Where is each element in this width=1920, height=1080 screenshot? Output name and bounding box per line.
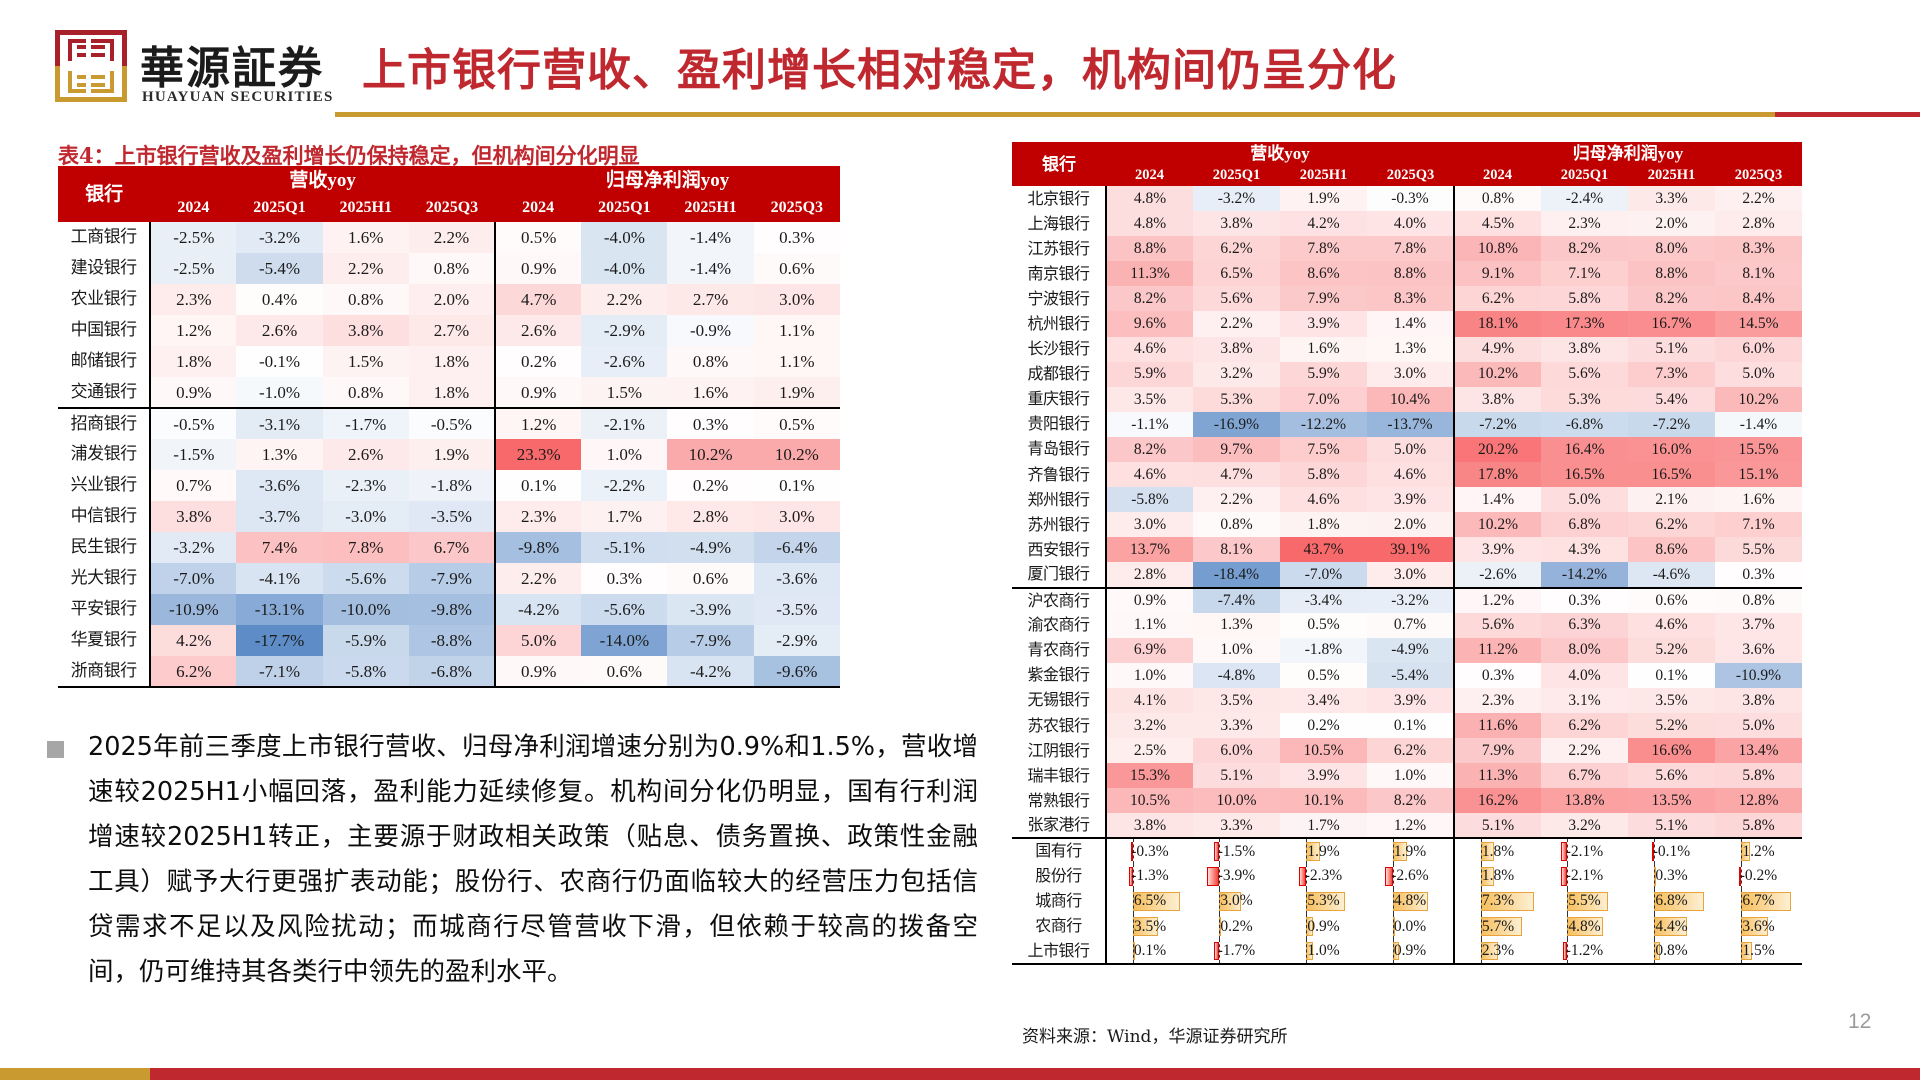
- table-cell-value: 10.1%: [1280, 788, 1367, 813]
- table-cell-value: 2.2%: [1541, 738, 1628, 763]
- table-cell-value: -4.2%: [667, 656, 753, 687]
- table-cell-value: 4.6%: [1106, 462, 1193, 487]
- table-cell-value: -4.1%: [236, 563, 322, 594]
- header-rule-gold: [335, 112, 1775, 117]
- table-cell-databar: -1.2%: [1541, 939, 1628, 964]
- col-group-profit: 归母净利润yoy: [495, 166, 840, 194]
- table-cell-value: -1.4%: [667, 222, 753, 253]
- table-cell-databar: 1.8%: [1454, 864, 1541, 889]
- table-cell-value: 10.2%: [1715, 387, 1802, 412]
- table-cell-value: -18.4%: [1193, 562, 1280, 587]
- table-cell-value: 0.8%: [667, 346, 753, 377]
- table-cell-value: 8.1%: [1715, 261, 1802, 286]
- table-cell-value: -14.2%: [1541, 562, 1628, 587]
- table-cell-value: 0.3%: [754, 222, 840, 253]
- table-row: 民生银行-3.2%7.4%7.8%6.7%-9.8%-5.1%-4.9%-6.4…: [58, 532, 840, 563]
- table-cell-value: -7.9%: [667, 625, 753, 656]
- table-cell-bank-name: 农业银行: [58, 284, 150, 315]
- table-cell-value: -3.5%: [754, 594, 840, 625]
- table-cell-value: 2.3%: [1454, 688, 1541, 713]
- table-cell-value: 0.4%: [236, 284, 322, 315]
- col-header-year: 2025H1: [1280, 164, 1367, 186]
- table-cell-value: 5.0%: [1541, 487, 1628, 512]
- table-row: 长沙银行4.6%3.8%1.6%1.3%4.9%3.8%5.1%6.0%: [1012, 337, 1802, 362]
- table-cell-value: 8.6%: [1280, 261, 1367, 286]
- table-cell-value: -6.8%: [1541, 412, 1628, 437]
- table-cell-value: 0.9%: [150, 377, 236, 408]
- table-cell-databar: -3.9%: [1193, 864, 1280, 889]
- table-cell-value: 3.2%: [1541, 813, 1628, 838]
- table-row-summary: 股份行-1.3%-3.9%-2.3%-2.6%1.8%-2.1%0.3%-0.2…: [1012, 864, 1802, 889]
- table-cell-value: 10.2%: [667, 439, 753, 470]
- col-header-bank: 银行: [1012, 142, 1106, 186]
- table-cell-value: 2.2%: [323, 253, 409, 284]
- table-cell-bank-name: 浙商银行: [58, 656, 150, 687]
- table-cell-databar: -2.3%: [1280, 864, 1367, 889]
- table-cell-value: -0.9%: [667, 315, 753, 346]
- table-cell-value: 7.8%: [1280, 236, 1367, 261]
- table-row: 华夏银行4.2%-17.7%-5.9%-8.8%5.0%-14.0%-7.9%-…: [58, 625, 840, 656]
- table-cell-value: 3.8%: [1193, 211, 1280, 236]
- table-row: 青岛银行8.2%9.7%7.5%5.0%20.2%16.4%16.0%15.5%: [1012, 437, 1802, 462]
- table-cell-value: 0.2%: [1280, 713, 1367, 738]
- table-cell-value: 8.3%: [1367, 286, 1454, 311]
- table-cell-value: 1.6%: [323, 222, 409, 253]
- table-cell-value: 1.8%: [150, 346, 236, 377]
- col-header-year: 2024: [150, 194, 236, 222]
- table-cell-value: 0.9%: [495, 377, 581, 408]
- table-cell-bank-name: 工商银行: [58, 222, 150, 253]
- table-cell-value: 6.5%: [1193, 261, 1280, 286]
- table-cell-databar: 2.3%: [1454, 939, 1541, 964]
- table-cell-value: -4.0%: [581, 222, 667, 253]
- table-cell-value: 1.0%: [1193, 638, 1280, 663]
- table-cell-bank-name: 杭州银行: [1012, 311, 1106, 336]
- table-row: 厦门银行2.8%-18.4%-7.0%3.0%-2.6%-14.2%-4.6%0…: [1012, 562, 1802, 587]
- table-cell-value: -2.6%: [581, 346, 667, 377]
- table-cell-value: 0.6%: [667, 563, 753, 594]
- table-cell-value: -2.5%: [150, 222, 236, 253]
- table-cell-value: 13.5%: [1628, 788, 1715, 813]
- table-cell-value: 9.1%: [1454, 261, 1541, 286]
- col-header-year: 2025Q1: [1193, 164, 1280, 186]
- table-cell-value: 16.7%: [1628, 311, 1715, 336]
- table-row-summary: 城商行6.5%3.0%5.3%4.8%7.3%5.5%6.8%6.7%: [1012, 889, 1802, 914]
- table-cell-value: 13.4%: [1715, 738, 1802, 763]
- table-cell-value: 3.9%: [1367, 688, 1454, 713]
- table-cell-value: 0.2%: [667, 470, 753, 501]
- table-cell-value: 43.7%: [1280, 537, 1367, 562]
- table-cell-value: 10.4%: [1367, 387, 1454, 412]
- table-cell-value: -1.1%: [1106, 412, 1193, 437]
- table-cell-value: -7.4%: [1193, 588, 1280, 613]
- table-cell-value: 1.9%: [409, 439, 495, 470]
- bank-growth-table-left: 银行 营收yoy 归母净利润yoy 2024 2025Q1 2025H1 202…: [58, 166, 840, 688]
- table-cell-databar: 0.1%: [1106, 939, 1193, 964]
- table-cell-value: -10.0%: [323, 594, 409, 625]
- table-cell-bank-name: 招商银行: [58, 408, 150, 439]
- table-cell-value: 0.5%: [1280, 663, 1367, 688]
- footer-rule: [0, 1068, 1920, 1080]
- table-cell-value: 2.6%: [236, 315, 322, 346]
- table-cell-databar: -0.1%: [1628, 838, 1715, 863]
- col-header-year: 2025Q3: [1367, 164, 1454, 186]
- table-cell-value: 0.8%: [323, 377, 409, 408]
- table-cell-bank-name: 光大银行: [58, 563, 150, 594]
- table-cell-bank-name: 厦门银行: [1012, 562, 1106, 587]
- table-cell-bank-name: 苏州银行: [1012, 512, 1106, 537]
- table-row: 青农商行6.9%1.0%-1.8%-4.9%11.2%8.0%5.2%3.6%: [1012, 638, 1802, 663]
- table-cell-value: -9.8%: [409, 594, 495, 625]
- table-cell-value: 5.6%: [1541, 362, 1628, 387]
- table-cell-databar: 1.9%: [1280, 838, 1367, 863]
- table-row: 重庆银行3.5%5.3%7.0%10.4%3.8%5.3%5.4%10.2%: [1012, 387, 1802, 412]
- table-cell-value: 3.3%: [1628, 186, 1715, 211]
- table-cell-value: 4.6%: [1367, 462, 1454, 487]
- table-cell-bank-name: 齐鲁银行: [1012, 462, 1106, 487]
- table-cell-value: 17.8%: [1454, 462, 1541, 487]
- table-row-summary: 农商行3.5%0.2%0.9%0.0%5.7%4.8%4.4%3.6%: [1012, 914, 1802, 939]
- table-cell-value: 39.1%: [1367, 537, 1454, 562]
- table-cell-value: 8.8%: [1367, 261, 1454, 286]
- table-cell-value: -7.9%: [409, 563, 495, 594]
- table-cell-value: 7.0%: [1280, 387, 1367, 412]
- table-cell-databar: 1.9%: [1367, 838, 1454, 863]
- table-cell-value: 23.3%: [495, 439, 581, 470]
- table-row: 光大银行-7.0%-4.1%-5.6%-7.9%2.2%0.3%0.6%-3.6…: [58, 563, 840, 594]
- table-cell-value: -4.9%: [1367, 638, 1454, 663]
- col-header-year: 2024: [1454, 164, 1541, 186]
- table-cell-value: 4.1%: [1106, 688, 1193, 713]
- table-row: 常熟银行10.5%10.0%10.1%8.2%16.2%13.8%13.5%12…: [1012, 788, 1802, 813]
- table-cell-value: -2.9%: [581, 315, 667, 346]
- table-cell-value: -3.7%: [236, 501, 322, 532]
- table-cell-databar: 0.3%: [1628, 864, 1715, 889]
- table-cell-value: 6.7%: [409, 532, 495, 563]
- table-cell-value: 0.8%: [1715, 588, 1802, 613]
- table-cell-value: 2.8%: [1106, 562, 1193, 587]
- table-cell-value: 0.6%: [754, 253, 840, 284]
- table-cell-databar: 5.5%: [1541, 889, 1628, 914]
- table-cell-value: -5.6%: [323, 563, 409, 594]
- table-cell-value: 7.1%: [1715, 512, 1802, 537]
- table-cell-value: 3.0%: [1367, 362, 1454, 387]
- table-cell-bank-name: 城商行: [1012, 889, 1106, 914]
- table-cell-bank-name: 郑州银行: [1012, 487, 1106, 512]
- table-row: 齐鲁银行4.6%4.7%5.8%4.6%17.8%16.5%16.5%15.1%: [1012, 462, 1802, 487]
- table-cell-value: 3.0%: [754, 501, 840, 532]
- logo-wordmark-en: HUAYUAN SECURITIES: [142, 89, 334, 106]
- table-cell-value: 3.0%: [1367, 562, 1454, 587]
- table-cell-value: 4.8%: [1106, 186, 1193, 211]
- table-row: 上海银行4.8%3.8%4.2%4.0%4.5%2.3%2.0%2.8%: [1012, 211, 1802, 236]
- table-cell-value: -5.8%: [323, 656, 409, 687]
- table-cell-value: 18.1%: [1454, 311, 1541, 336]
- table-cell-value: 5.5%: [1715, 537, 1802, 562]
- table-cell-value: 2.3%: [1541, 211, 1628, 236]
- table-cell-value: 8.1%: [1193, 537, 1280, 562]
- col-header-year: 2025Q3: [409, 194, 495, 222]
- table-cell-databar: -1.5%: [1193, 838, 1280, 863]
- table-cell-bank-name: 农商行: [1012, 914, 1106, 939]
- table-cell-value: 1.0%: [581, 439, 667, 470]
- table-cell-databar: -0.2%: [1715, 864, 1802, 889]
- table-cell-bank-name: 西安银行: [1012, 537, 1106, 562]
- table-cell-value: 5.0%: [1715, 713, 1802, 738]
- table-cell-value: 5.1%: [1628, 337, 1715, 362]
- table-cell-value: 10.0%: [1193, 788, 1280, 813]
- table-cell-value: 4.0%: [1367, 211, 1454, 236]
- table-cell-value: 11.3%: [1454, 763, 1541, 788]
- table-cell-value: 17.3%: [1541, 311, 1628, 336]
- table-cell-value: 4.9%: [1454, 337, 1541, 362]
- table-cell-value: 1.2%: [495, 408, 581, 439]
- table-cell-value: 5.1%: [1628, 813, 1715, 838]
- table-row: 杭州银行9.6%2.2%3.9%1.4%18.1%17.3%16.7%14.5%: [1012, 311, 1802, 336]
- table-cell-value: 8.0%: [1541, 638, 1628, 663]
- table-cell-value: 3.4%: [1280, 688, 1367, 713]
- table-cell-value: 1.3%: [236, 439, 322, 470]
- table-cell-value: 8.6%: [1628, 537, 1715, 562]
- table-cell-bank-name: 紫金银行: [1012, 663, 1106, 688]
- table-row: 南京银行11.3%6.5%8.6%8.8%9.1%7.1%8.8%8.1%: [1012, 261, 1802, 286]
- table-cell-databar: 4.4%: [1628, 914, 1715, 939]
- table-cell-databar: -1.7%: [1193, 939, 1280, 964]
- table-cell-databar: 0.2%: [1193, 914, 1280, 939]
- table-cell-value: 5.2%: [1628, 638, 1715, 663]
- table-cell-value: -2.5%: [150, 253, 236, 284]
- table-cell-databar: 1.5%: [1715, 939, 1802, 964]
- table-cell-value: 3.8%: [1454, 387, 1541, 412]
- col-group-revenue: 营收yoy: [1106, 142, 1454, 164]
- table-cell-value: -0.1%: [236, 346, 322, 377]
- table-cell-value: 2.2%: [409, 222, 495, 253]
- table-cell-value: 2.6%: [323, 439, 409, 470]
- table-cell-value: 0.8%: [1193, 512, 1280, 537]
- table-cell-databar: 1.2%: [1715, 838, 1802, 863]
- table-cell-value: 6.7%: [1541, 763, 1628, 788]
- table-cell-value: 3.8%: [323, 315, 409, 346]
- table-row: 紫金银行1.0%-4.8%0.5%-5.4%0.3%4.0%0.1%-10.9%: [1012, 663, 1802, 688]
- table-cell-value: 4.0%: [1541, 663, 1628, 688]
- table-cell-value: 8.3%: [1715, 236, 1802, 261]
- table-cell-value: -4.2%: [495, 594, 581, 625]
- table-cell-bank-name: 长沙银行: [1012, 337, 1106, 362]
- table-cell-value: -12.2%: [1280, 412, 1367, 437]
- table-cell-value: -3.1%: [236, 408, 322, 439]
- table-cell-value: 3.9%: [1367, 487, 1454, 512]
- table-cell-value: 1.8%: [409, 377, 495, 408]
- table-cell-bank-name: 青农商行: [1012, 638, 1106, 663]
- header-rule-red: [1775, 112, 1920, 117]
- table-cell-databar: 5.7%: [1454, 914, 1541, 939]
- table-cell-databar: 6.5%: [1106, 889, 1193, 914]
- table-cell-value: 10.2%: [1454, 512, 1541, 537]
- table-cell-value: -17.7%: [236, 625, 322, 656]
- table-cell-value: 0.5%: [1280, 613, 1367, 638]
- table-cell-value: 5.4%: [1628, 387, 1715, 412]
- table-cell-databar: 6.7%: [1715, 889, 1802, 914]
- col-header-bank: 银行: [58, 166, 150, 222]
- table-cell-value: 0.9%: [495, 253, 581, 284]
- table-cell-value: 14.5%: [1715, 311, 1802, 336]
- table-row: 平安银行-10.9%-13.1%-10.0%-9.8%-4.2%-5.6%-3.…: [58, 594, 840, 625]
- table-cell-databar: 7.3%: [1454, 889, 1541, 914]
- table-cell-value: -5.6%: [581, 594, 667, 625]
- table-cell-value: 11.2%: [1454, 638, 1541, 663]
- table-cell-value: 1.2%: [1367, 813, 1454, 838]
- table-row: 郑州银行-5.8%2.2%4.6%3.9%1.4%5.0%2.1%1.6%: [1012, 487, 1802, 512]
- col-header-year: 2024: [495, 194, 581, 222]
- table-cell-value: 1.6%: [1715, 487, 1802, 512]
- table-cell-value: -1.4%: [1715, 412, 1802, 437]
- table-cell-bank-name: 交通银行: [58, 377, 150, 408]
- table-cell-bank-name: 国有行: [1012, 838, 1106, 863]
- page-title: 上市银行营收、盈利增长相对稳定，机构间仍呈分化: [362, 34, 1397, 98]
- table-cell-value: 8.2%: [1541, 236, 1628, 261]
- table-row: 苏农银行3.2%3.3%0.2%0.1%11.6%6.2%5.2%5.0%: [1012, 713, 1802, 738]
- table-cell-bank-name: 股份行: [1012, 864, 1106, 889]
- table-cell-bank-name: 中国银行: [58, 315, 150, 346]
- table-cell-value: 2.7%: [409, 315, 495, 346]
- table-cell-bank-name: 浦发银行: [58, 439, 150, 470]
- table-cell-value: -5.1%: [581, 532, 667, 563]
- table-cell-value: -9.8%: [495, 532, 581, 563]
- page-number: 12: [1848, 1010, 1871, 1034]
- table-row: 江阴银行2.5%6.0%10.5%6.2%7.9%2.2%16.6%13.4%: [1012, 738, 1802, 763]
- table-cell-bank-name: 苏农银行: [1012, 713, 1106, 738]
- table-cell-value: -1.0%: [236, 377, 322, 408]
- table-cell-value: -0.5%: [150, 408, 236, 439]
- table-cell-value: 1.1%: [754, 315, 840, 346]
- table-cell-value: 6.3%: [1541, 613, 1628, 638]
- table-row: 西安银行13.7%8.1%43.7%39.1%3.9%4.3%8.6%5.5%: [1012, 537, 1802, 562]
- table-row: 渝农商行1.1%1.3%0.5%0.7%5.6%6.3%4.6%3.7%: [1012, 613, 1802, 638]
- table-cell-value: 7.9%: [1454, 738, 1541, 763]
- table-cell-value: 4.3%: [1541, 537, 1628, 562]
- table-cell-value: 7.8%: [323, 532, 409, 563]
- table-cell-value: 15.5%: [1715, 437, 1802, 462]
- table-cell-bank-name: 贵阳银行: [1012, 412, 1106, 437]
- table-cell-value: 3.8%: [1106, 813, 1193, 838]
- footer-rule-gold: [0, 1068, 150, 1080]
- table-cell-value: 5.1%: [1193, 763, 1280, 788]
- table-cell-value: -7.0%: [150, 563, 236, 594]
- table-row: 中信银行3.8%-3.7%-3.0%-3.5%2.3%1.7%2.8%3.0%: [58, 501, 840, 532]
- table-cell-value: -3.6%: [754, 563, 840, 594]
- table-cell-value: -4.8%: [1193, 663, 1280, 688]
- table-cell-value: -5.8%: [1106, 487, 1193, 512]
- table-row: 沪农商行0.9%-7.4%-3.4%-3.2%1.2%0.3%0.6%0.8%: [1012, 588, 1802, 613]
- table-row: 张家港行3.8%3.3%1.7%1.2%5.1%3.2%5.1%5.8%: [1012, 813, 1802, 838]
- table-cell-value: -1.7%: [323, 408, 409, 439]
- table-cell-value: 7.5%: [1280, 437, 1367, 462]
- table-cell-databar: 3.6%: [1715, 914, 1802, 939]
- table-cell-databar: -2.1%: [1541, 838, 1628, 863]
- table-cell-value: 16.2%: [1454, 788, 1541, 813]
- table-cell-bank-name: 宁波银行: [1012, 286, 1106, 311]
- table-cell-value: 0.7%: [1367, 613, 1454, 638]
- table-cell-value: 1.1%: [1106, 613, 1193, 638]
- table-cell-bank-name: 张家港行: [1012, 813, 1106, 838]
- table-cell-value: 6.2%: [150, 656, 236, 687]
- table-cell-value: -13.7%: [1367, 412, 1454, 437]
- table-cell-value: 8.8%: [1628, 261, 1715, 286]
- table-cell-value: 1.6%: [667, 377, 753, 408]
- table-cell-value: -13.1%: [236, 594, 322, 625]
- table-cell-bank-name: 上海银行: [1012, 211, 1106, 236]
- table-row: 苏州银行3.0%0.8%1.8%2.0%10.2%6.8%6.2%7.1%: [1012, 512, 1802, 537]
- table-cell-value: -4.6%: [1628, 562, 1715, 587]
- col-header-year: 2025H1: [323, 194, 409, 222]
- table-cell-value: 1.0%: [1367, 763, 1454, 788]
- table-cell-value: 4.6%: [1280, 487, 1367, 512]
- table-cell-value: -1.5%: [150, 439, 236, 470]
- table-cell-value: 3.8%: [1715, 688, 1802, 713]
- table-cell-value: -9.6%: [754, 656, 840, 687]
- table-cell-value: 8.8%: [1106, 236, 1193, 261]
- table-row: 无锡银行4.1%3.5%3.4%3.9%2.3%3.1%3.5%3.8%: [1012, 688, 1802, 713]
- table-cell-value: 2.5%: [1106, 738, 1193, 763]
- table-cell-value: 4.6%: [1628, 613, 1715, 638]
- table-cell-value: 5.6%: [1193, 286, 1280, 311]
- table-row: 农业银行2.3%0.4%0.8%2.0%4.7%2.2%2.7%3.0%: [58, 284, 840, 315]
- table-cell-bank-name: 渝农商行: [1012, 613, 1106, 638]
- table-cell-bank-name: 中信银行: [58, 501, 150, 532]
- table-cell-value: -2.1%: [581, 408, 667, 439]
- table-cell-value: 2.2%: [1193, 311, 1280, 336]
- table-cell-databar: 3.5%: [1106, 914, 1193, 939]
- table-cell-value: 3.5%: [1628, 688, 1715, 713]
- table-cell-value: 4.5%: [1454, 211, 1541, 236]
- table-cell-value: 10.8%: [1454, 236, 1541, 261]
- table-cell-value: 7.3%: [1628, 362, 1715, 387]
- table-cell-value: -2.4%: [1541, 186, 1628, 211]
- table-cell-value: -7.1%: [236, 656, 322, 687]
- table-cell-value: 1.7%: [1280, 813, 1367, 838]
- table-cell-value: -3.0%: [323, 501, 409, 532]
- table-cell-value: -4.9%: [667, 532, 753, 563]
- table-cell-value: 2.0%: [409, 284, 495, 315]
- table-cell-value: 3.8%: [150, 501, 236, 532]
- table-cell-value: 0.5%: [754, 408, 840, 439]
- table-cell-value: 5.2%: [1628, 713, 1715, 738]
- table-cell-value: 1.4%: [1367, 311, 1454, 336]
- table-cell-value: 2.2%: [495, 563, 581, 594]
- table-cell-databar: -2.6%: [1367, 864, 1454, 889]
- table-cell-value: 1.3%: [1193, 613, 1280, 638]
- table-cell-value: 2.3%: [150, 284, 236, 315]
- table-cell-value: 15.3%: [1106, 763, 1193, 788]
- table-cell-value: 10.2%: [1454, 362, 1541, 387]
- table-cell-bank-name: 平安银行: [58, 594, 150, 625]
- logo-wordmark-cn: 華源証券: [140, 32, 324, 96]
- table-cell-value: 1.5%: [323, 346, 409, 377]
- table-cell-value: 2.0%: [1367, 512, 1454, 537]
- table-cell-bank-name: 江苏银行: [1012, 236, 1106, 261]
- table-cell-value: -16.9%: [1193, 412, 1280, 437]
- table-cell-value: 1.7%: [581, 501, 667, 532]
- table-cell-value: 5.6%: [1628, 763, 1715, 788]
- table-cell-value: 13.7%: [1106, 537, 1193, 562]
- table-cell-value: -2.9%: [754, 625, 840, 656]
- table-cell-databar: 1.8%: [1454, 838, 1541, 863]
- table-cell-databar: 0.9%: [1367, 939, 1454, 964]
- table-cell-value: 0.1%: [495, 470, 581, 501]
- table-cell-value: 2.8%: [1715, 211, 1802, 236]
- table-row: 工商银行-2.5%-3.2%1.6%2.2%0.5%-4.0%-1.4%0.3%: [58, 222, 840, 253]
- table-cell-value: 0.7%: [150, 470, 236, 501]
